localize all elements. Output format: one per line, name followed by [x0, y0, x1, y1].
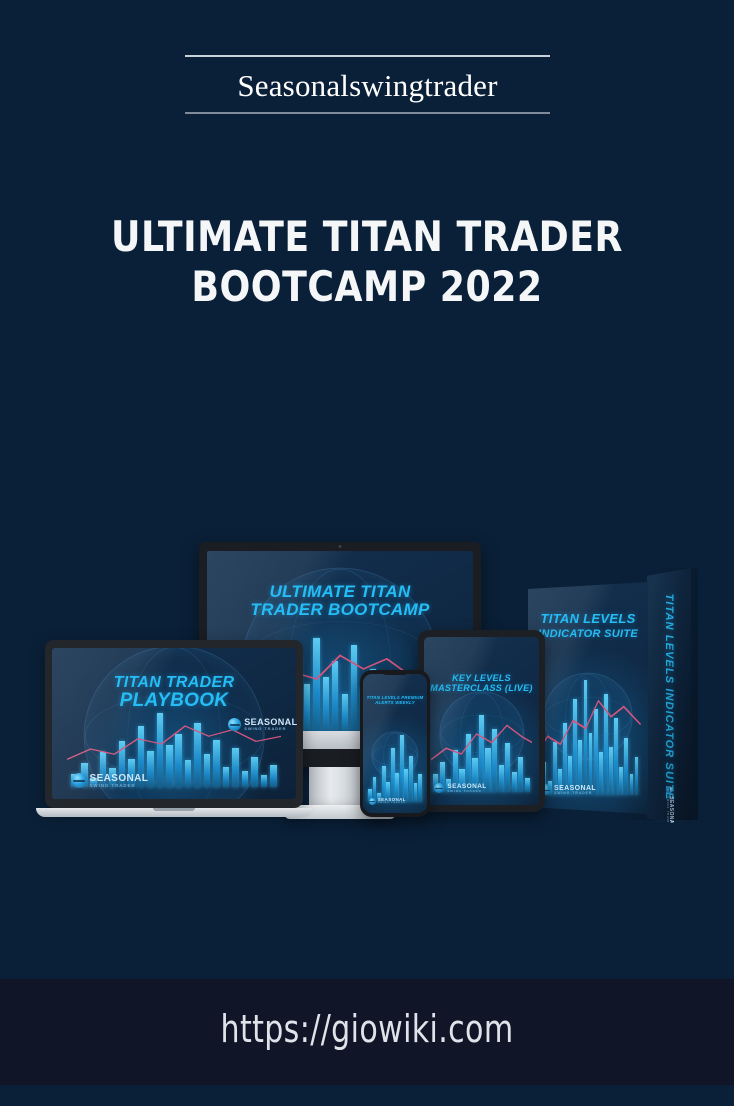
site-header: Seasonalswingtrader — [185, 55, 550, 114]
mockup-tablet: KEY LEVELS MASTERCLASS (LIVE) SEASONAL S… — [418, 630, 545, 812]
globe-logo-icon — [369, 798, 376, 805]
seasonal-logo: SEASONAL SWING TRADER — [434, 783, 486, 793]
globe-logo-icon — [666, 786, 673, 793]
monitor-screen-title: ULTIMATE TITAN TRADER BOOTCAMP — [207, 583, 473, 620]
logo-wordmark: SEASONAL SWING TRADER — [378, 798, 406, 805]
box-front-title: TITAN LEVELS INDICATOR SUITE — [528, 612, 648, 641]
page-title: ULTIMATE TITAN TRADER BOOTCAMP 2022 — [15, 212, 720, 312]
logo-wordmark: SEASONAL SWING TRADER — [665, 796, 673, 826]
page-root: Seasonalswingtrader ULTIMATE TITAN TRADE… — [0, 0, 734, 1106]
bar-chart-graphic — [368, 730, 422, 802]
phone-notch — [381, 670, 409, 675]
phone-bezel: TITAN LEVELS PREMIUM ALERTS WEEKLY SEASO… — [360, 670, 430, 817]
bar-chart-graphic — [433, 704, 530, 791]
seasonal-logo: SEASONAL SWING TRADER — [369, 798, 406, 805]
tablet-screen: KEY LEVELS MASTERCLASS (LIVE) SEASONAL S… — [424, 637, 539, 805]
bar-chart-graphic — [538, 675, 639, 796]
globe-logo-icon — [434, 783, 444, 793]
seasonal-logo: SEASONAL SWING TRADER — [228, 718, 297, 731]
globe-logo-icon — [72, 773, 87, 788]
logo-wordmark: SEASONAL SWING TRADER — [90, 774, 149, 789]
header-rule-bottom — [185, 112, 550, 114]
site-title: Seasonalswingtrader — [185, 57, 550, 112]
seasonal-logo: SEASONAL SWING TRADER — [72, 773, 149, 788]
footer-url[interactable]: https://giowiki.com — [44, 1006, 690, 1052]
webcam-icon — [339, 545, 342, 548]
phone-screen-title: TITAN LEVELS PREMIUM ALERTS WEEKLY — [363, 696, 427, 706]
box-front-face: TITAN LEVELS INDICATOR SUITE SEASONAL SW… — [528, 582, 648, 814]
globe-logo-icon — [228, 718, 241, 731]
mockup-smartphone: TITAN LEVELS PREMIUM ALERTS WEEKLY SEASO… — [360, 670, 430, 817]
logo-wordmark: SEASONAL SWING TRADER — [244, 718, 297, 731]
seasonal-logo: SEASONAL SWING TRADER — [665, 786, 673, 826]
tablet-screen-title: KEY LEVELS MASTERCLASS (LIVE) — [424, 674, 539, 693]
tablet-bezel: KEY LEVELS MASTERCLASS (LIVE) SEASONAL S… — [418, 630, 545, 812]
box-spine-title: TITAN LEVELS INDICATOR SUITE — [663, 594, 675, 801]
logo-wordmark: SEASONAL SWING TRADER — [554, 785, 596, 796]
mockup-product-box: TITAN LEVELS INDICATOR SUITE SEASONAL SW… — [528, 568, 698, 820]
screen-artwork — [424, 637, 539, 805]
laptop-screen-title: TITAN TRADER PLAYBOOK — [52, 674, 296, 712]
laptop-hinge-notch — [153, 808, 195, 811]
product-mockup-group: ULTIMATE TITAN TRADER BOOTCAMP SEASONAL … — [0, 520, 734, 820]
box-spine: TITAN LEVELS INDICATOR SUITE SEASONAL SW… — [647, 568, 691, 826]
logo-wordmark: SEASONAL SWING TRADER — [447, 784, 486, 794]
seasonal-logo: SEASONAL SWING TRADER — [540, 784, 596, 795]
phone-screen: TITAN LEVELS PREMIUM ALERTS WEEKLY SEASO… — [363, 674, 427, 813]
